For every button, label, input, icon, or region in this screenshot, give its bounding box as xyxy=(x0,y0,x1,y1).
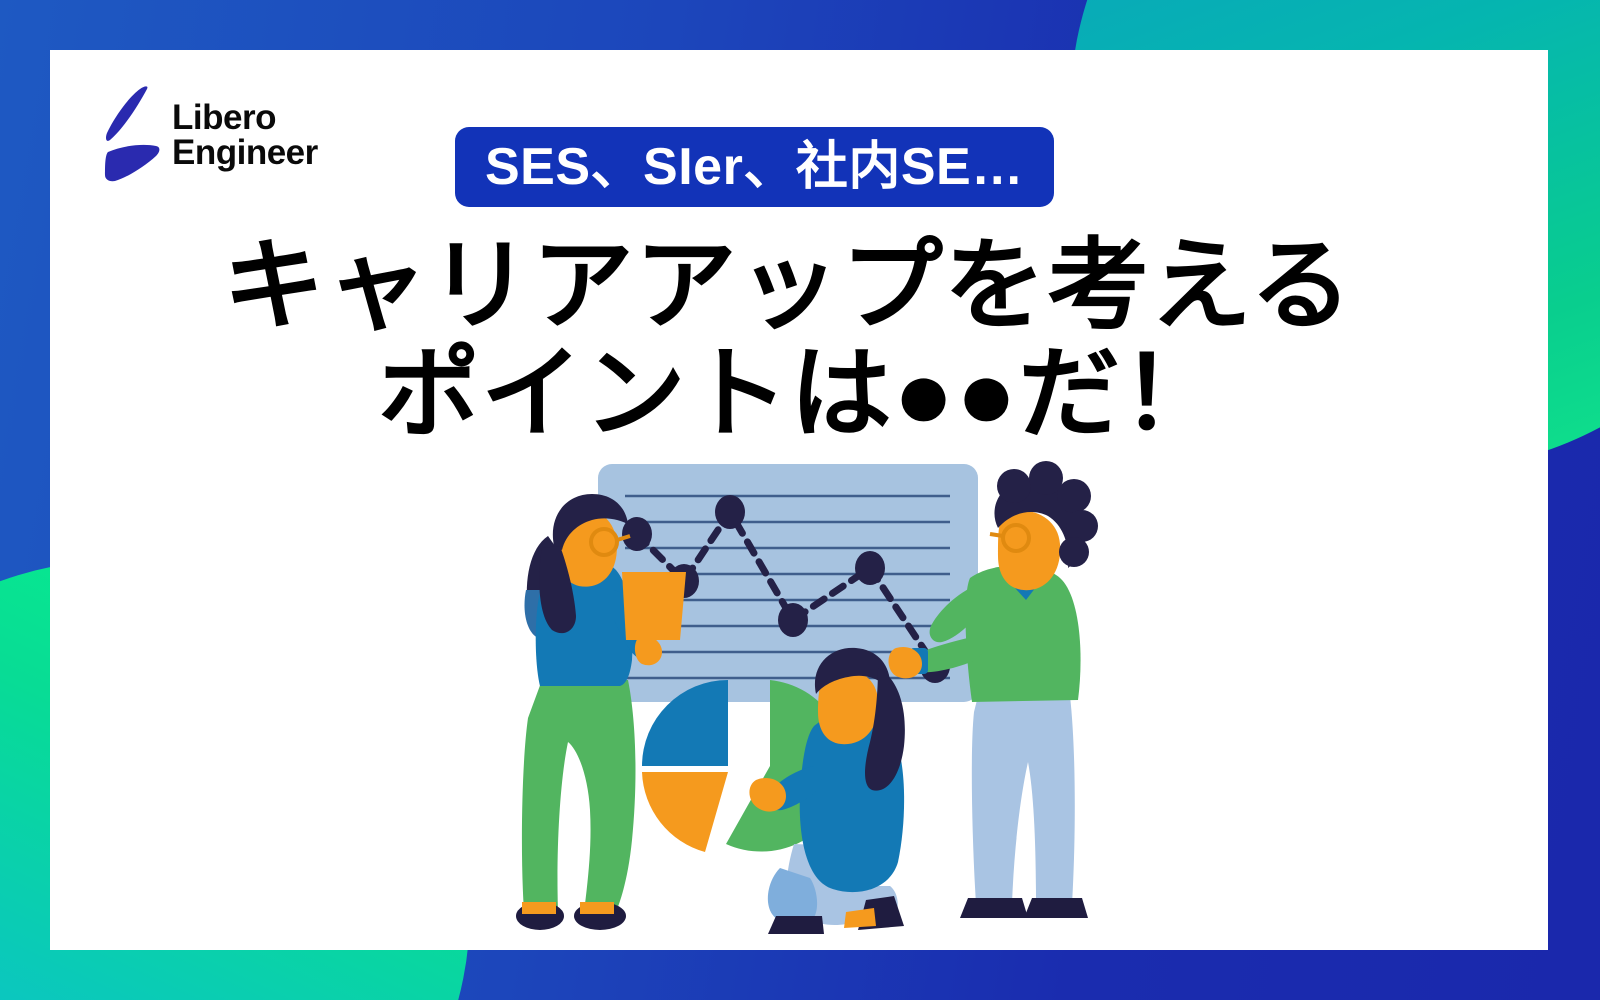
banner-root: Libero Engineer SES、SIer、社内SE… キャリアアップを考… xyxy=(0,0,1600,1000)
brand-name-line-1: Libero xyxy=(172,100,318,135)
illustration-team-analyzing-charts xyxy=(480,450,1120,940)
brand-name-line-2: Engineer xyxy=(172,135,318,170)
page-title: キャリアアップを考える ポイントは●●だ！ xyxy=(50,232,1548,448)
headline-line-2: ポイントは●●だ！ xyxy=(50,340,1548,448)
content-card: Libero Engineer SES、SIer、社内SE… キャリアアップを考… xyxy=(50,50,1548,950)
brand-wordmark: Libero Engineer xyxy=(172,100,318,170)
category-badge: SES、SIer、社内SE… xyxy=(455,127,1054,207)
clipboard-orange-icon xyxy=(622,572,686,640)
brand-logo[interactable]: Libero Engineer xyxy=(102,86,318,184)
libero-leaf-mark-icon xyxy=(102,86,164,184)
category-badge-label: SES、SIer、社内SE… xyxy=(485,141,1024,193)
illustration-svg xyxy=(480,450,1120,940)
headline-line-1: キャリアアップを考える xyxy=(50,232,1548,340)
